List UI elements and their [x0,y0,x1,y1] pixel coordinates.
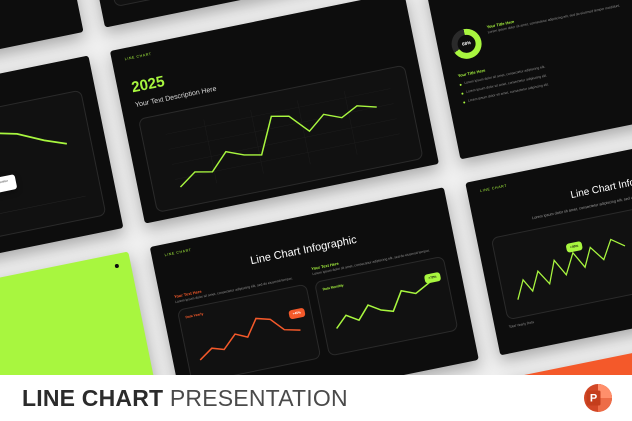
slide-infographic-donut[interactable]: Line Chart Infographic 68% Your Title He… [425,0,632,159]
slide-tag: LINE CHART [480,184,508,195]
powerpoint-logo-icon: P [582,382,614,414]
slide-growth-chart[interactable]: LINE CHART +38% Lorem ipsum dolor sit am… [0,55,123,287]
slide-tag: LINE CHART [124,52,152,63]
svg-text:P: P [590,393,597,405]
donut-chart: 68% [449,26,484,61]
slide-2025-description[interactable]: LINE CHART 2025 Your Text Description He… [110,0,439,224]
chart-panel: +38% Lorem ipsum dolor sit amet, consect… [0,90,107,270]
slide-infographic-orange-card[interactable]: LINE CHART Line Chart Infographic Lorem … [465,123,632,355]
slide-dot-icon [115,264,120,269]
banner-title-light: PRESENTATION [163,385,348,411]
slide-mosaic: LINE CHART Total 80% Lorem ipsum dolor s… [0,0,632,421]
line-chart [499,217,632,313]
banner-title-bold: LINE CHART [22,385,163,411]
preview-stage: LINE CHART Total 80% Lorem ipsum dolor s… [0,0,632,421]
donut-percent: 68% [449,26,484,61]
banner-title: LINE CHART PRESENTATION [22,385,348,412]
bar-desc: Lorem ipsum dolor sit amet, consectetur … [0,0,53,6]
footer-banner: LINE CHART PRESENTATION P [0,375,632,421]
slide-tag: LINE CHART [164,248,192,259]
